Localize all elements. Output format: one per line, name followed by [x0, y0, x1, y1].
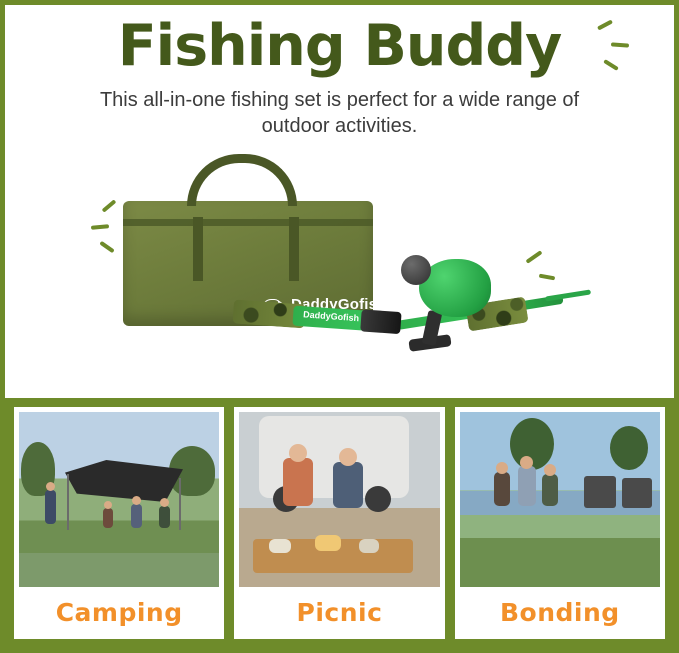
person-head — [46, 482, 55, 491]
leaf-icon — [525, 250, 542, 264]
person-head — [160, 498, 169, 507]
page-title: Fishing Buddy — [118, 15, 562, 77]
fishing-rod-tip — [545, 289, 591, 301]
product-hero: DaddyGofish DaddyGofish — [5, 159, 674, 389]
person-head — [132, 496, 141, 505]
person-head — [520, 456, 533, 469]
product-infographic: Fishing Buddy This all-in-one fishing se… — [0, 0, 679, 653]
leaf-icon — [539, 274, 555, 281]
tent-pole — [179, 478, 181, 530]
person-head — [496, 462, 508, 474]
person-shape — [518, 466, 536, 506]
use-case-cards: Camping Picnic — [5, 398, 674, 648]
food-item — [315, 535, 341, 551]
person-shape — [333, 462, 363, 508]
person-head — [544, 464, 556, 476]
bag-handle — [187, 154, 297, 206]
tree-shape — [610, 426, 648, 470]
camping-scene — [19, 412, 219, 587]
use-case-card: Camping — [14, 407, 224, 639]
handle-black-tip — [360, 309, 401, 334]
use-case-card: Picnic — [234, 407, 444, 639]
bag-zipper — [123, 219, 373, 226]
spark-icon — [597, 19, 613, 30]
tarp-shape — [65, 460, 183, 502]
person-head — [104, 501, 112, 509]
card-caption: Picnic — [239, 591, 439, 633]
person-shape — [103, 508, 113, 528]
card-caption: Bonding — [460, 591, 660, 633]
person-shape — [131, 504, 142, 528]
header: Fishing Buddy This all-in-one fishing se… — [5, 5, 674, 139]
person-shape — [45, 490, 56, 524]
person-shape — [542, 474, 558, 506]
water-shape — [19, 553, 219, 587]
picnic-scene — [239, 412, 439, 587]
bonding-scene — [460, 412, 660, 587]
reel-handle-knob — [401, 255, 431, 285]
camping-photo — [19, 412, 219, 587]
picnic-photo — [239, 412, 439, 587]
food-item — [359, 539, 379, 553]
spark-icon — [603, 59, 619, 71]
wheel-shape — [365, 486, 391, 512]
spark-icon — [611, 42, 629, 47]
leaf-icon — [91, 224, 109, 230]
camp-chair — [622, 478, 652, 508]
person-shape — [283, 458, 313, 506]
food-item — [269, 539, 291, 553]
bonding-photo — [460, 412, 660, 587]
use-case-card: Bonding — [455, 407, 665, 639]
bag-strap-right — [289, 217, 299, 281]
bag-strap-left — [193, 217, 203, 281]
person-shape — [159, 506, 170, 528]
card-caption: Camping — [19, 591, 219, 633]
tent-pole — [67, 474, 69, 530]
camp-chair — [584, 476, 616, 508]
leaf-icon — [102, 199, 117, 212]
page-subtitle: This all-in-one fishing set is perfect f… — [75, 87, 605, 139]
leaf-icon — [99, 241, 114, 253]
person-shape — [494, 472, 510, 506]
